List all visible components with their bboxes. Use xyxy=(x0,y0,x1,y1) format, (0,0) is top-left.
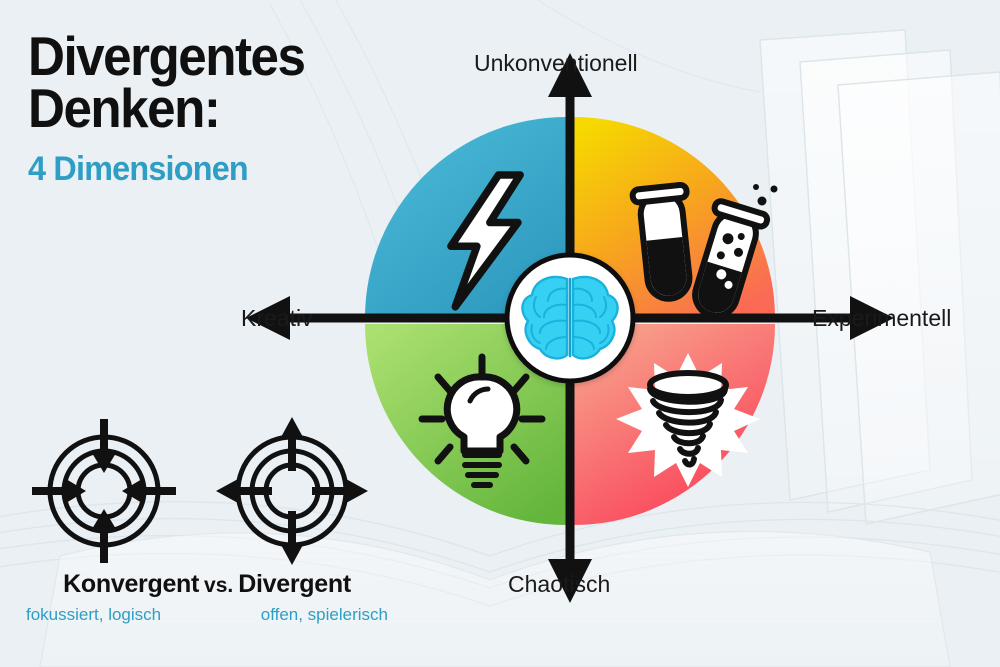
comparison-title-right: Divergent xyxy=(238,570,351,598)
axis-label-top: Unkonventionell xyxy=(474,50,638,77)
infographic-canvas: Divergentes Denken: 4 Dimensionen Unkonv… xyxy=(0,0,1000,667)
comparison-subtitles: fokussiert, logisch offen, spielerisch xyxy=(12,605,402,625)
brain-icon xyxy=(522,277,617,358)
comparison-subtitle-left: fokussiert, logisch xyxy=(26,605,161,625)
diverging-arrow-heads xyxy=(216,417,368,565)
page-title-line-2: Denken: xyxy=(28,82,304,134)
converging-arrow-heads xyxy=(32,419,176,563)
comparison-separator: vs. xyxy=(199,574,238,597)
convergent-divergent-comparison: Konvergentvs.Divergent fokussiert, logis… xyxy=(12,415,402,640)
comparison-title-left: Konvergent xyxy=(63,570,199,598)
comparison-subtitle-right: offen, spielerisch xyxy=(261,605,388,625)
diverging-arrows-icon[interactable] xyxy=(212,415,372,567)
converging-arrows-icon[interactable] xyxy=(24,415,184,567)
axis-label-left: Kreativ xyxy=(241,305,313,332)
axis-label-right: Experimentell xyxy=(812,305,951,332)
comparison-titles: Konvergentvs.Divergent xyxy=(12,570,402,599)
axis-label-bottom: Chaotisch xyxy=(508,571,610,598)
center-medallion[interactable] xyxy=(507,255,633,381)
page-subtitle: 4 Dimensionen xyxy=(28,151,310,187)
page-title-line-1: Divergentes xyxy=(28,30,304,82)
headline-block: Divergentes Denken: 4 Dimensionen xyxy=(28,30,325,187)
